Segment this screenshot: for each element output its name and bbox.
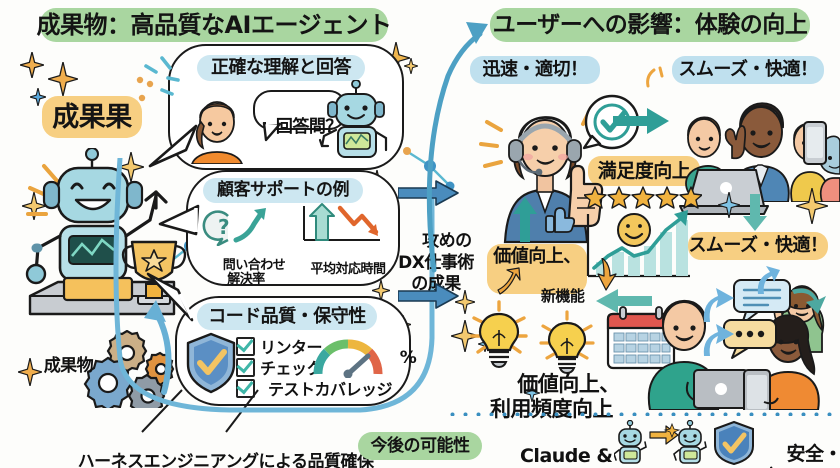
sparkle-icon — [20, 52, 44, 78]
footer-badge-label: 今後の可能性 — [371, 438, 470, 455]
sparkle-icon — [30, 88, 46, 106]
section-divider — [446, 412, 834, 416]
arrow-down-teal-icon — [742, 194, 768, 232]
left-footnote: ハーネスエンジニアングによる品質確保 — [78, 452, 374, 468]
arrow-right-teal-icon — [613, 106, 671, 136]
badge-smooth-comfortable-top-label: スムーズ・快適！ — [678, 61, 817, 79]
arrow-up-teal-icon — [512, 196, 538, 244]
shield-check-icon — [712, 420, 756, 466]
infographic-canvas: 成果物：高品質なAIエージェント ユーザーへの影響：体験の向上 成果果 — [0, 0, 840, 468]
badge-fast-appropriate: 迅速・適切！ — [470, 56, 600, 84]
right-header-banner-label: ユーザーへの影響：体験の向上 — [493, 14, 808, 37]
badge-fast-appropriate-label: 迅速・適切！ — [483, 61, 588, 79]
badge-smooth-comfortable-mid-label: スムーズ・快適！ — [688, 237, 827, 255]
arrow-up-blue-icon — [754, 266, 782, 296]
robot-pair-icon — [614, 420, 710, 466]
artifact-label-wrap: 成果物 — [22, 338, 93, 395]
thumbs-up-icon — [545, 200, 575, 234]
footer-badge: 今後の可能性 — [358, 432, 482, 460]
footer-item-2-label-wrap: 安全・信頼性の 高いサービス — [762, 420, 840, 468]
left-footnote-wrap: ハーネスエンジニアングによる品質確保 — [56, 434, 374, 468]
sparkle-icon — [640, 62, 666, 92]
bubble1-title: 正確な理解と回答 — [211, 59, 351, 77]
left-header-banner: 成果物：高品質なAIエージェント — [40, 8, 388, 42]
exchange-arrows-icon — [694, 286, 738, 362]
footer-item-2-label: 安全・信頼性の 高いサービス — [762, 443, 840, 468]
arrow-right-bottom-icon[interactable] — [398, 283, 460, 309]
star-rating-icon — [584, 186, 702, 210]
left-panel-flow-curve — [110, 158, 440, 418]
bubble1-title-pill: 正確な理解と回答 — [197, 55, 365, 81]
footer-item-1-label-wrap: Claude & Codexの進化 — [492, 422, 616, 468]
sparkle-icon — [48, 62, 78, 96]
sparkle-icon — [718, 192, 740, 218]
decor-dashes-icon — [130, 54, 185, 110]
sparkle-icon — [404, 58, 418, 74]
left-header-banner-label: 成果物：高品質なAIエージェント — [36, 13, 391, 37]
arrow-up-orange-icon — [496, 266, 522, 296]
robot-avatar — [318, 80, 394, 164]
arrow-down-orange-icon — [596, 258, 618, 292]
right-header-banner: ユーザーへの影響：体験の向上 — [490, 8, 810, 42]
footer-item-1-label: Claude & Codexの進化 — [495, 445, 614, 468]
highlight-badge: 成果果 — [42, 96, 142, 138]
badge-smooth-comfortable-mid: スムーズ・快適！ — [688, 232, 828, 260]
highlight-badge-label: 成果果 — [52, 104, 132, 131]
badge-smooth-comfortable-top: スムーズ・快適！ — [672, 56, 824, 84]
badge-value-up-label: 価値向上、 — [493, 248, 581, 266]
arrow-curve-right-icon — [790, 282, 830, 318]
sparkle-icon — [796, 188, 828, 224]
artifact-label: 成果物 — [44, 356, 94, 376]
phone-icon — [800, 120, 830, 168]
